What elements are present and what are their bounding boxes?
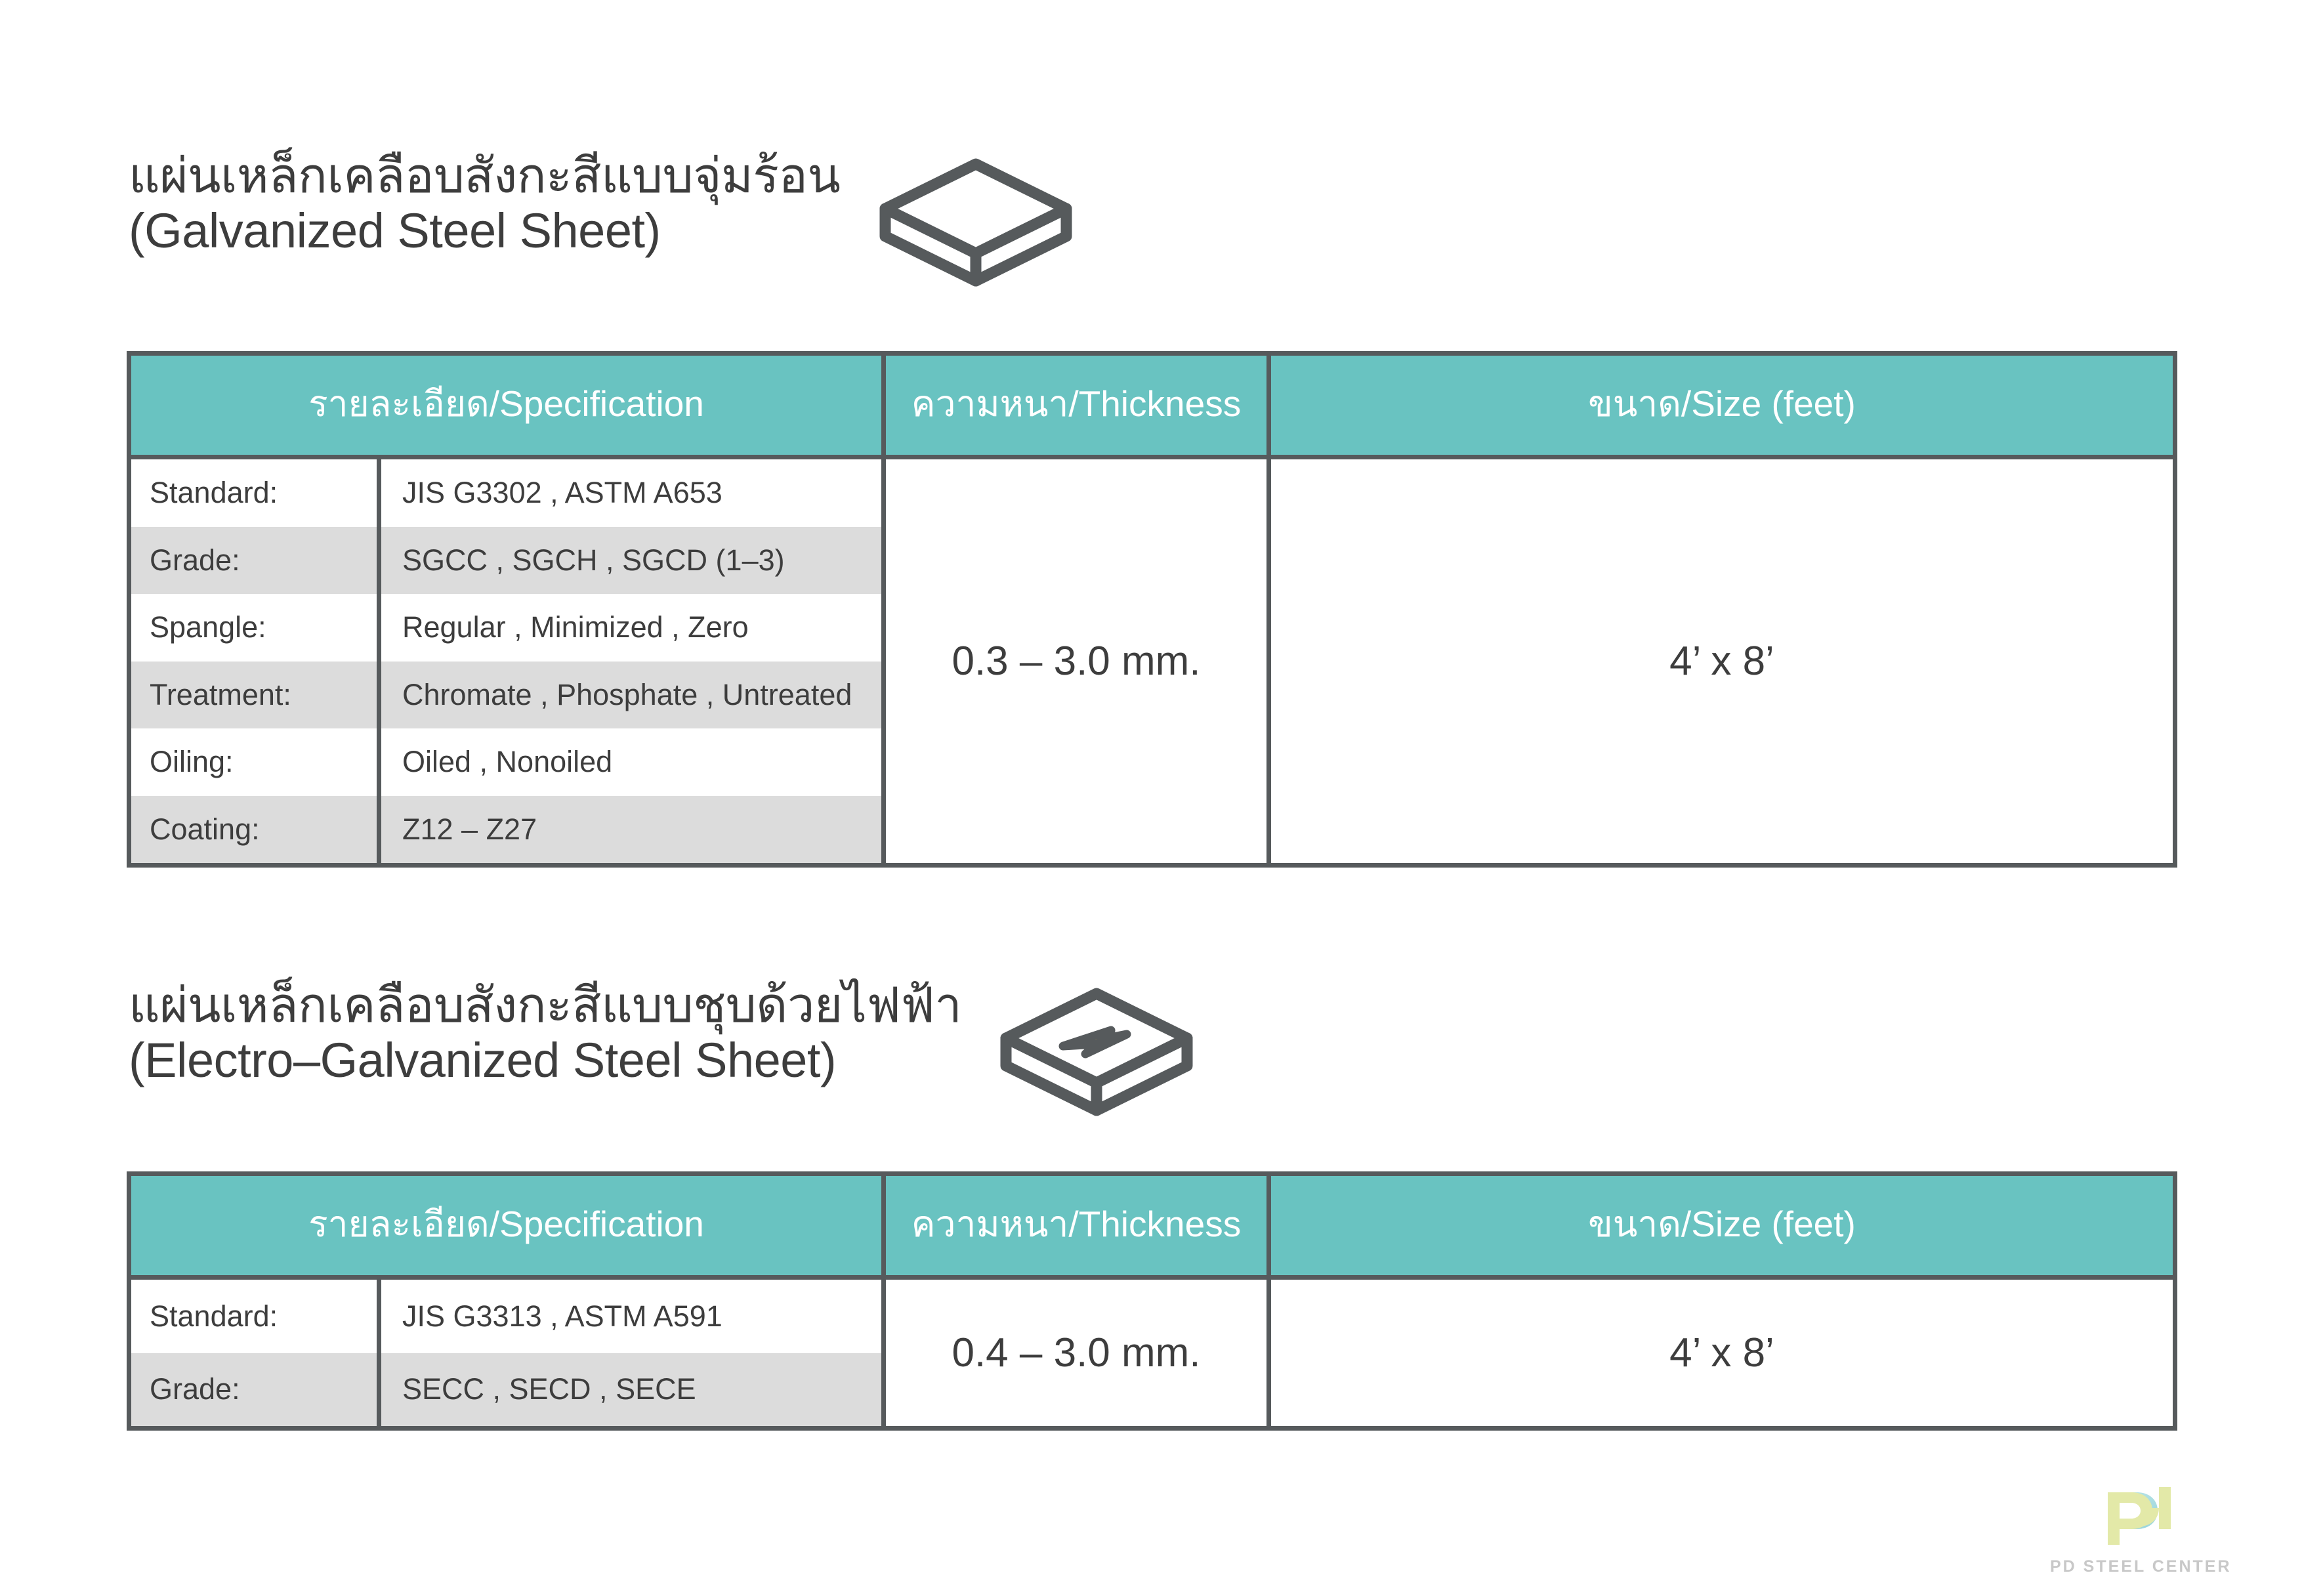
- row-value: SGCC , SGCH , SGCD (1–3): [377, 527, 881, 595]
- pd-logo-mark: [2096, 1482, 2181, 1551]
- row-label: Spangle:: [131, 610, 377, 644]
- column-header-thickness: ความหนา/Thickness: [881, 356, 1271, 455]
- row-label: Standard:: [131, 476, 377, 510]
- heading-english-galvanized: (Galvanized Steel Sheet): [129, 203, 841, 259]
- row-value: JIS G3313 , ASTM A591: [377, 1280, 881, 1353]
- row-value: Regular , Minimized , Zero: [377, 594, 881, 661]
- steel-sheet-electro-isometric-icon: [998, 984, 1195, 1129]
- table-row: Standard: JIS G3313 , ASTM A591: [131, 1280, 881, 1353]
- steel-sheet-isometric-icon: [877, 155, 1074, 299]
- column-header-specification: รายละเอียด/Specification: [131, 356, 881, 455]
- table-row: Grade: SGCC , SGCH , SGCD (1–3): [131, 527, 881, 595]
- table-row: Oiling: Oiled , Nonoiled: [131, 728, 881, 796]
- table-row: Standard: JIS G3302 , ASTM A653: [131, 459, 881, 527]
- spec-table-galvanized: รายละเอียด/Specification ความหนา/Thickne…: [127, 351, 2177, 868]
- heading-thai-electro-galvanized: แผ่นเหล็กเคลือบสังกะสีแบบชุบด้วยไฟฟ้า: [129, 978, 961, 1033]
- spec-table-electro-galvanized: รายละเอียด/Specification ความหนา/Thickne…: [127, 1171, 2177, 1431]
- row-label: Treatment:: [131, 678, 377, 712]
- row-label: Grade:: [131, 543, 377, 577]
- table-header-row-electro-galvanized: รายละเอียด/Specification ความหนา/Thickne…: [131, 1176, 2173, 1275]
- company-logo: PD STEEL CENTER: [2050, 1482, 2227, 1576]
- lightning-bolt-icon: [1063, 1030, 1127, 1054]
- section-heading-electro-galvanized: แผ่นเหล็กเคลือบสังกะสีแบบชุบด้วยไฟฟ้า (E…: [129, 978, 1195, 1129]
- table-body-electro-galvanized: Standard: JIS G3313 , ASTM A591 Grade: S…: [131, 1275, 2173, 1426]
- column-header-specification: รายละเอียด/Specification: [131, 1176, 881, 1275]
- table-row: Coating: Z12 – Z27: [131, 796, 881, 864]
- heading-english-electro-galvanized: (Electro–Galvanized Steel Sheet): [129, 1033, 961, 1088]
- row-value: Oiled , Nonoiled: [377, 728, 881, 796]
- heading-thai-galvanized: แผ่นเหล็กเคลือบสังกะสีแบบจุ่มร้อน: [129, 148, 841, 203]
- heading-text-electro-galvanized: แผ่นเหล็กเคลือบสังกะสีแบบชุบด้วยไฟฟ้า (E…: [129, 978, 961, 1087]
- row-value: SECC , SECD , SECE: [377, 1353, 881, 1427]
- table-row: Treatment: Chromate , Phosphate , Untrea…: [131, 661, 881, 729]
- logo-caption: PD STEEL CENTER: [2050, 1557, 2227, 1576]
- column-header-size: ขนาด/Size (feet): [1271, 356, 2173, 455]
- thickness-value-galvanized: 0.3 – 3.0 mm.: [881, 459, 1271, 863]
- column-header-size: ขนาด/Size (feet): [1271, 1176, 2173, 1275]
- thickness-value-electro-galvanized: 0.4 – 3.0 mm.: [881, 1280, 1271, 1426]
- table-row: Spangle: Regular , Minimized , Zero: [131, 594, 881, 661]
- row-value: Z12 – Z27: [377, 796, 881, 864]
- table-header-row-galvanized: รายละเอียด/Specification ความหนา/Thickne…: [131, 356, 2173, 455]
- row-value: JIS G3302 , ASTM A653: [377, 459, 881, 527]
- specification-column-electro-galvanized: Standard: JIS G3313 , ASTM A591 Grade: S…: [131, 1280, 881, 1426]
- table-row: Grade: SECC , SECD , SECE: [131, 1353, 881, 1427]
- heading-text-galvanized: แผ่นเหล็กเคลือบสังกะสีแบบจุ่มร้อน (Galva…: [129, 148, 841, 258]
- row-label: Coating:: [131, 812, 377, 847]
- size-value-galvanized: 4’ x 8’: [1271, 459, 2173, 863]
- infographic-page: แผ่นเหล็กเคลือบสังกะสีแบบจุ่มร้อน (Galva…: [0, 0, 2302, 1596]
- specification-column-galvanized: Standard: JIS G3302 , ASTM A653 Grade: S…: [131, 459, 881, 863]
- row-value: Chromate , Phosphate , Untreated: [377, 661, 881, 729]
- row-label: Standard:: [131, 1299, 377, 1333]
- row-label: Grade:: [131, 1372, 377, 1406]
- size-value-electro-galvanized: 4’ x 8’: [1271, 1280, 2173, 1426]
- section-heading-galvanized: แผ่นเหล็กเคลือบสังกะสีแบบจุ่มร้อน (Galva…: [129, 148, 1074, 299]
- table-body-galvanized: Standard: JIS G3302 , ASTM A653 Grade: S…: [131, 455, 2173, 863]
- row-label: Oiling:: [131, 745, 377, 779]
- column-header-thickness: ความหนา/Thickness: [881, 1176, 1271, 1275]
